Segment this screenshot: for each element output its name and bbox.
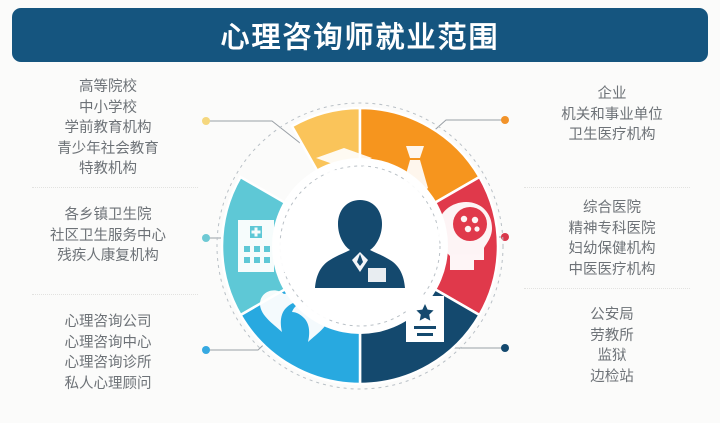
connector-dot-community-health [202,234,210,242]
connector-dot-counseling-private [202,346,210,354]
certificate-badge-icon [406,296,444,342]
donut-chart [210,96,510,396]
infographic-canvas: 心理咨询师就业范围 高等院校 中小学校 学前教育机构 青少年社会教育 特教机构 … [0,0,720,423]
connector-dot-education [202,117,210,125]
